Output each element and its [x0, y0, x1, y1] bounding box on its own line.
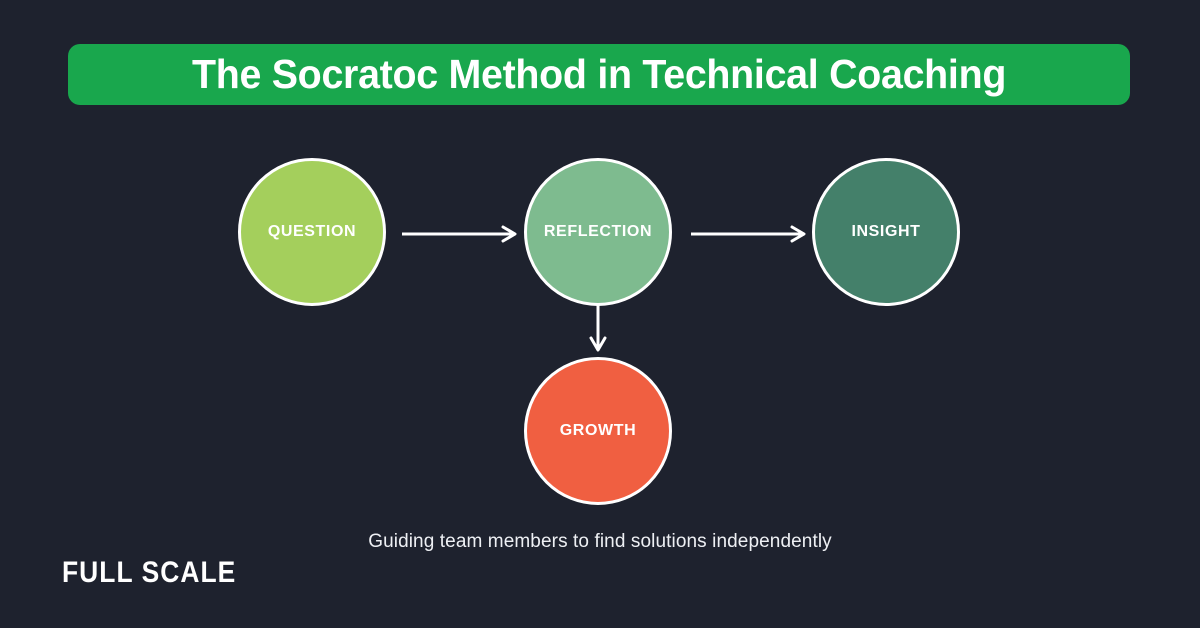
node-label-insight: INSIGHT — [851, 223, 920, 241]
node-label-question: QUESTION — [268, 223, 356, 241]
arrow-down-icon-reflection-to-growth — [584, 303, 612, 357]
caption-text: Guiding team members to find solutions i… — [0, 531, 1200, 553]
full-scale-logo: FULL SCALE — [62, 556, 236, 590]
node-label-growth: GROWTH — [560, 422, 636, 440]
infographic-canvas: The Socratoc Method in Technical Coachin… — [0, 0, 1200, 628]
diagram-node-reflection: REFLECTION — [524, 158, 672, 306]
diagram-node-growth: GROWTH — [524, 357, 672, 505]
node-label-reflection: REFLECTION — [544, 223, 652, 241]
arrow-right-icon-reflection-to-insight — [689, 220, 811, 248]
arrow-right-icon-question-to-reflection — [400, 220, 522, 248]
title-banner: The Socratoc Method in Technical Coachin… — [68, 44, 1130, 105]
page-title: The Socratoc Method in Technical Coachin… — [192, 54, 1006, 95]
diagram-node-question: QUESTION — [238, 158, 386, 306]
diagram-node-insight: INSIGHT — [812, 158, 960, 306]
